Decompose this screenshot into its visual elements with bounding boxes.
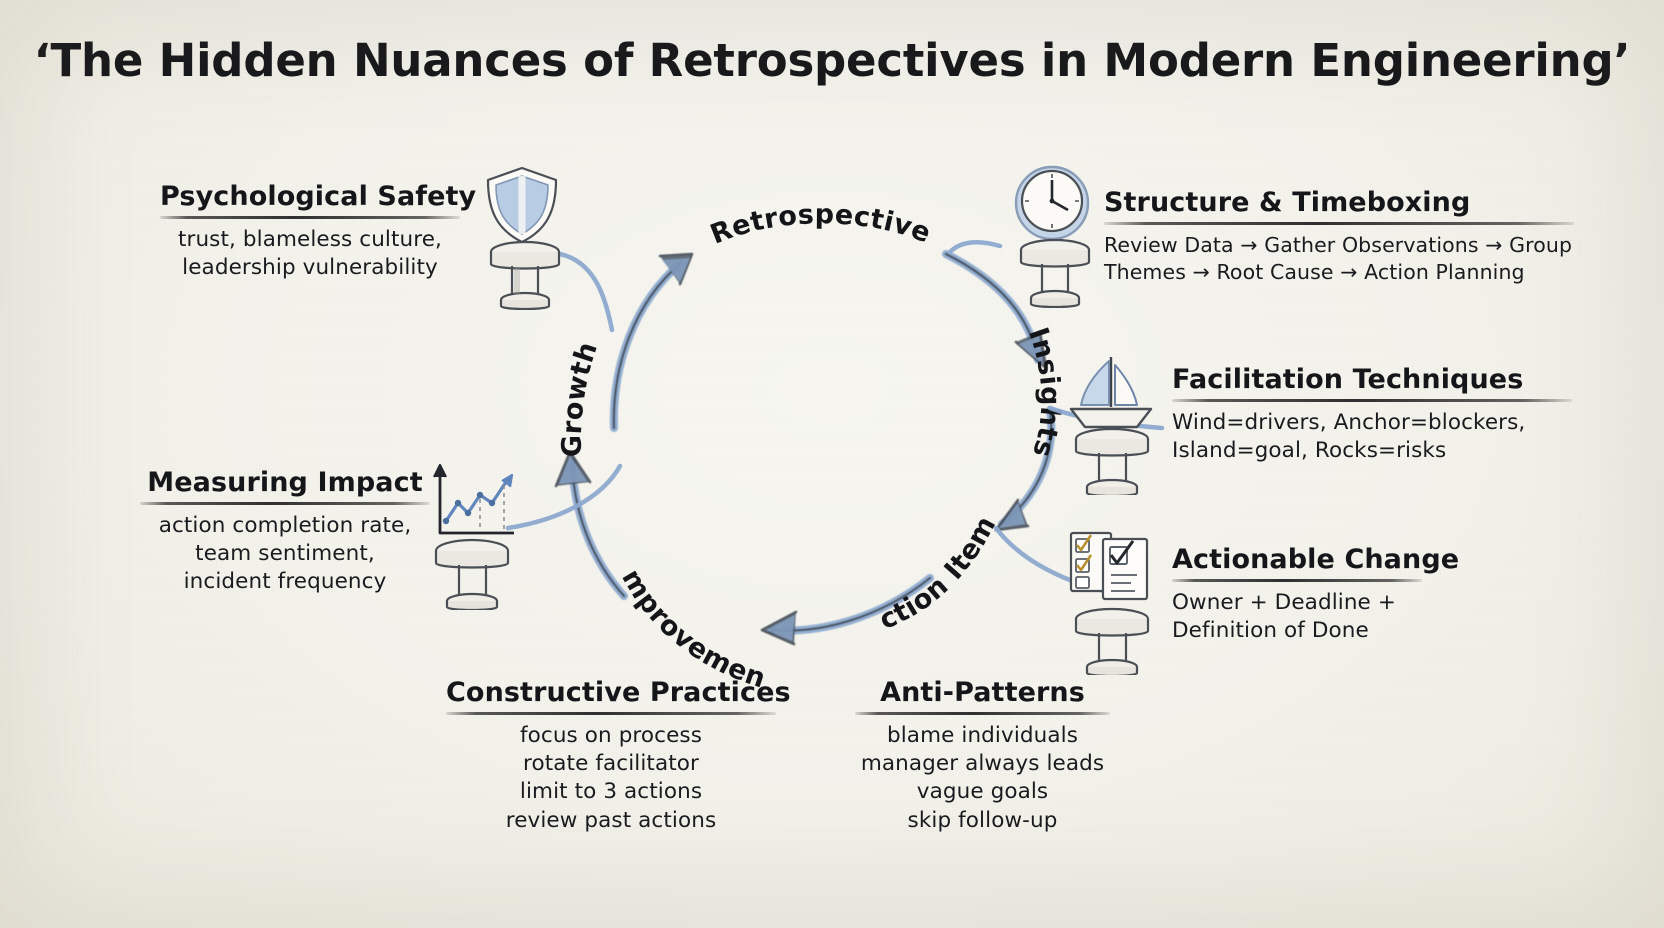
anti-patterns-line-2: manager always leads bbox=[855, 750, 1110, 778]
constructive-practices-line-3: limit to 3 actions bbox=[446, 778, 776, 806]
facilitation-techniques-line-1: Wind=drivers, Anchor=blockers, bbox=[1172, 409, 1572, 437]
diagram-canvas: ‘The Hidden Nuances of Retrospectives in… bbox=[0, 0, 1664, 928]
structure-timeboxing-line-1: Review Data → Gather Observations → Grou… bbox=[1104, 232, 1574, 259]
measuring-impact-heading: Measuring Impact bbox=[140, 468, 430, 500]
actionable-change-line-2: Definition of Done bbox=[1172, 617, 1572, 645]
block-anti-patterns: Anti-Patterns blame individuals manager … bbox=[855, 678, 1110, 835]
anti-patterns-underline bbox=[855, 712, 1110, 715]
block-measuring-impact: Measuring Impact action completion rate,… bbox=[140, 468, 430, 597]
shield-icon bbox=[470, 160, 580, 310]
constructive-practices-heading: Constructive Practices bbox=[446, 678, 776, 710]
checklist-icon bbox=[1055, 525, 1170, 675]
structure-timeboxing-line-2: Themes → Root Cause → Action Planning bbox=[1104, 259, 1574, 286]
facilitation-techniques-heading: Facilitation Techniques bbox=[1172, 365, 1572, 397]
facilitation-techniques-underline bbox=[1172, 399, 1572, 402]
anti-patterns-line-4: skip follow-up bbox=[855, 807, 1110, 835]
constructive-practices-line-4: review past actions bbox=[446, 807, 776, 835]
measuring-impact-line-2: team sentiment, bbox=[140, 540, 430, 568]
block-constructive-practices: Constructive Practices focus on process … bbox=[446, 678, 776, 835]
structure-timeboxing-underline bbox=[1104, 222, 1574, 225]
constructive-practices-line-1: focus on process bbox=[446, 722, 776, 750]
psychological-safety-line-1: trust, blameless culture, bbox=[160, 226, 460, 254]
measuring-impact-underline bbox=[140, 502, 430, 505]
anti-patterns-line-1: blame individuals bbox=[855, 722, 1110, 750]
actionable-change-line-1: Owner + Deadline + bbox=[1172, 589, 1572, 617]
structure-timeboxing-heading: Structure & Timeboxing bbox=[1104, 188, 1574, 220]
psychological-safety-heading: Psychological Safety bbox=[160, 182, 460, 214]
sailboat-icon bbox=[1055, 345, 1170, 495]
actionable-change-heading: Actionable Change bbox=[1172, 545, 1572, 577]
anti-patterns-line-3: vague goals bbox=[855, 778, 1110, 806]
constructive-practices-underline bbox=[446, 712, 776, 715]
block-psychological-safety: Psychological Safety trust, blameless cu… bbox=[160, 182, 460, 282]
block-facilitation-techniques: Facilitation Techniques Wind=drivers, An… bbox=[1172, 365, 1572, 465]
block-actionable-change: Actionable Change Owner + Deadline + Def… bbox=[1172, 545, 1572, 645]
measuring-impact-line-3: incident frequency bbox=[140, 568, 430, 596]
facilitation-techniques-line-2: Island=goal, Rocks=risks bbox=[1172, 437, 1572, 465]
actionable-change-underline bbox=[1172, 579, 1422, 582]
psychological-safety-line-2: leadership vulnerability bbox=[160, 254, 460, 282]
line-chart-icon bbox=[418, 455, 528, 610]
clock-icon bbox=[1000, 158, 1110, 308]
block-structure-timeboxing: Structure & Timeboxing Review Data → Gat… bbox=[1104, 188, 1574, 286]
constructive-practices-line-2: rotate facilitator bbox=[446, 750, 776, 778]
psychological-safety-underline bbox=[160, 216, 460, 219]
measuring-impact-line-1: action completion rate, bbox=[140, 512, 430, 540]
anti-patterns-heading: Anti-Patterns bbox=[855, 678, 1110, 710]
